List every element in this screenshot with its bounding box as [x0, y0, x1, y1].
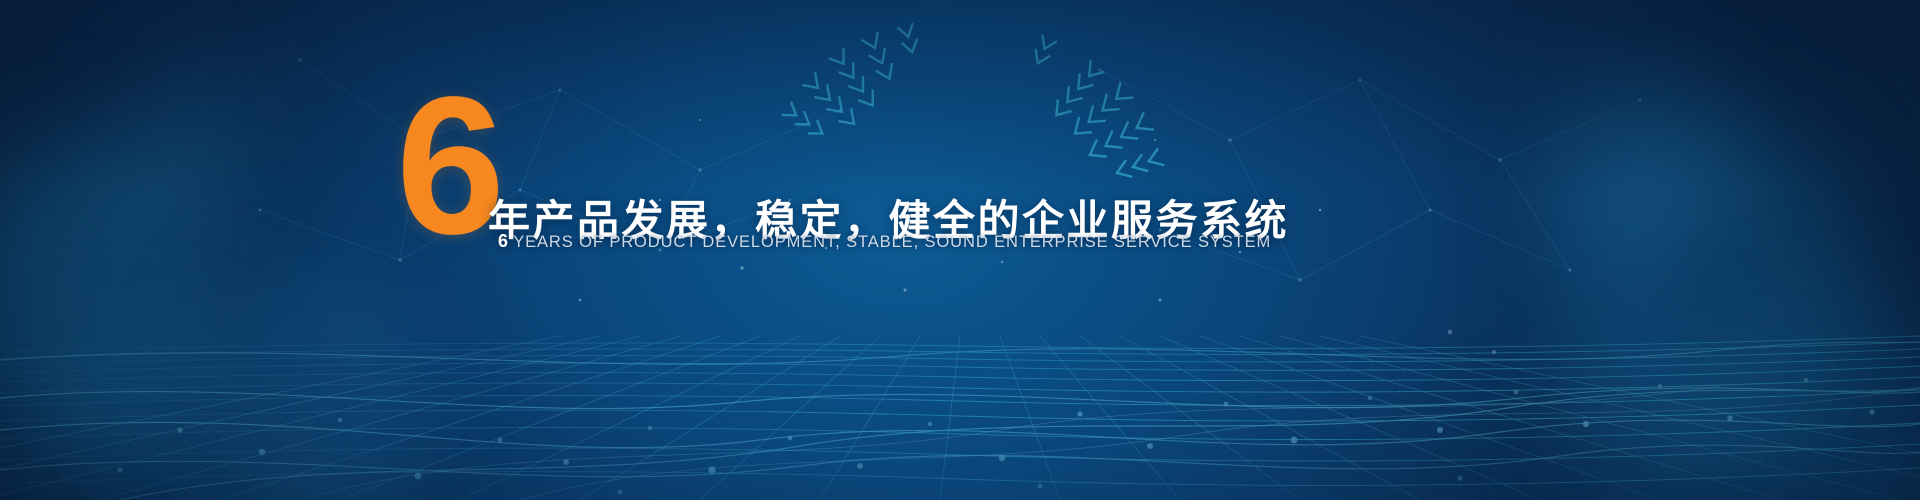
years-number: 6: [396, 68, 501, 264]
subtitle: 6 YEARS OF PRODUCT DEVELOPMENT, STABLE, …: [498, 232, 1271, 251]
banner-copy: 6 年产品发展，稳定，健全的企业服务系统 6 YEARS OF PRODUCT …: [396, 86, 1526, 276]
headline-row: 6 年产品发展，稳定，健全的企业服务系统: [396, 86, 1526, 236]
subtitle-lead-number: 6: [498, 231, 508, 251]
bokeh-orb: [1560, 330, 1770, 500]
hero-banner: 6 年产品发展，稳定，健全的企业服务系统 6 YEARS OF PRODUCT …: [0, 0, 1920, 500]
bokeh-orb: [120, 60, 270, 210]
subtitle-text: YEARS OF PRODUCT DEVELOPMENT, STABLE, SO…: [513, 233, 1271, 251]
bokeh-orb: [1560, 100, 1860, 480]
bokeh-orb: [1540, 60, 1720, 260]
bokeh-orb: [55, 330, 255, 500]
bokeh-orb: [0, 130, 220, 460]
bokeh-orb: [1720, 290, 1920, 500]
bokeh-orb: [200, 250, 420, 500]
